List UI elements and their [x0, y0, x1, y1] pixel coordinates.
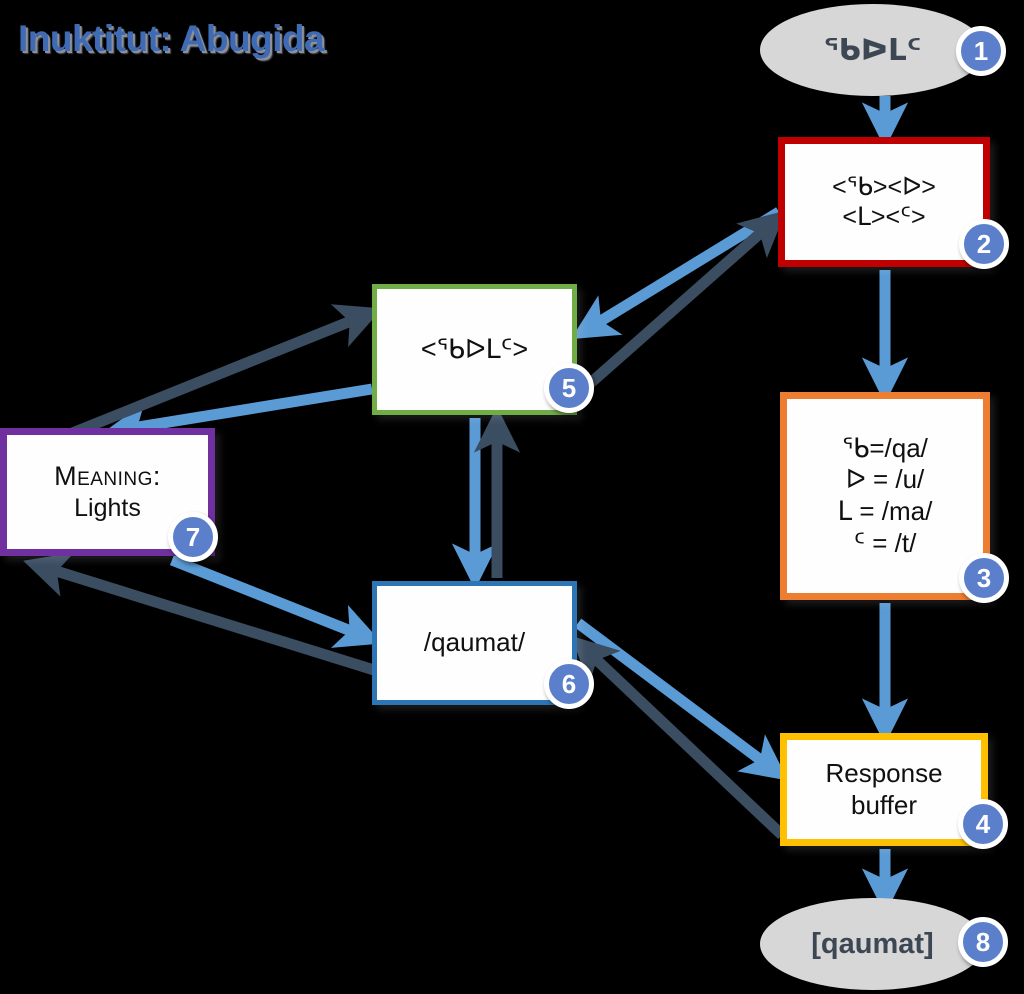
node-grapheme-segmentation[interactable]: <ᖃ><ᐅ> <ᒪ><ᑦ>: [778, 137, 990, 267]
node-spoken-output[interactable]: [qaumat]: [760, 898, 985, 990]
arrow-4-to-6: [584, 648, 782, 835]
node-response-buffer[interactable]: Response buffer: [780, 733, 988, 846]
page-title: Inuktitut: Abugida: [18, 18, 324, 60]
node-3-line-2: ᐅ = /u/: [846, 464, 925, 496]
badge-7: 7: [168, 512, 218, 562]
node-7-line-2: Lights: [74, 493, 141, 524]
node-2-line-1: <ᖃ><ᐅ>: [832, 172, 936, 203]
node-3-line-4: ᑦ = /t/: [854, 528, 917, 560]
badge-5: 5: [544, 363, 594, 413]
node-3-line-1: ᖃ=/qa/: [842, 433, 928, 465]
node-7-line-1: Meaning:: [54, 460, 161, 493]
diagram-canvas: Inuktitut: Abugida ᖃᐅᒪᑦ 1 <ᖃ><ᐅ> <ᒪ><ᑦ> …: [0, 0, 1024, 994]
badge-6: 6: [544, 659, 594, 709]
node-4-line-1: Response: [825, 758, 942, 790]
badge-2: 2: [959, 219, 1009, 269]
node-3-line-3: ᒪ = /ma/: [838, 496, 933, 528]
node-2-line-2: <ᒪ><ᑦ>: [842, 202, 925, 233]
badge-4: 4: [958, 799, 1008, 849]
arrow-6-to-4: [578, 623, 774, 770]
arrow-7-to-6: [172, 560, 366, 637]
badge-1: 1: [956, 26, 1006, 76]
node-1-text: ᖃᐅᒪᑦ: [824, 33, 922, 68]
node-input-orthography[interactable]: ᖃᐅᒪᑦ: [760, 4, 985, 96]
arrow-2-to-5: [586, 212, 779, 330]
node-8-text: [qaumat]: [811, 928, 933, 961]
badge-3: 3: [959, 553, 1009, 603]
node-6-line-1: /qaumat/: [424, 627, 525, 659]
node-5-line-1: <ᖃᐅᒪᑦ>: [421, 333, 528, 366]
node-4-line-2: buffer: [851, 790, 917, 822]
badge-8: 8: [958, 917, 1008, 967]
node-grapheme-phoneme-mapping[interactable]: ᖃ=/qa/ ᐅ = /u/ ᒪ = /ma/ ᑦ = /t/: [780, 392, 990, 600]
